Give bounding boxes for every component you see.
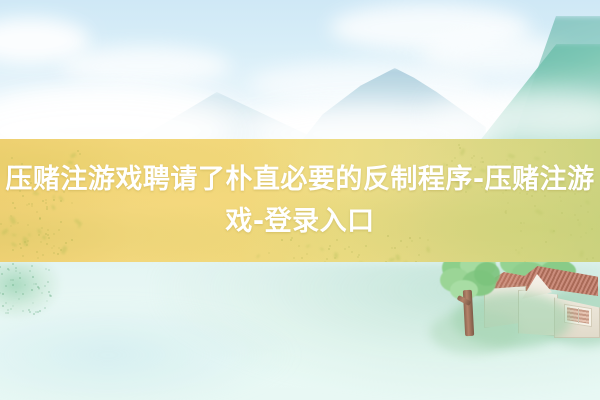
- tree-left: [440, 252, 510, 338]
- headline-line-2: 戏-登录入口: [225, 203, 374, 241]
- banner-image: 压赌注游戏聘请了朴直必要的反制程序-压赌注游 戏-登录入口: [0, 0, 600, 400]
- tree-canopy: [474, 262, 500, 286]
- headline-line-1: 压赌注游戏聘请了朴直必要的反制程序-压赌注游: [5, 161, 594, 199]
- headline-block: 压赌注游戏聘请了朴直必要的反制程序-压赌注游 戏-登录入口: [0, 139, 600, 262]
- window-mullion: [578, 308, 579, 323]
